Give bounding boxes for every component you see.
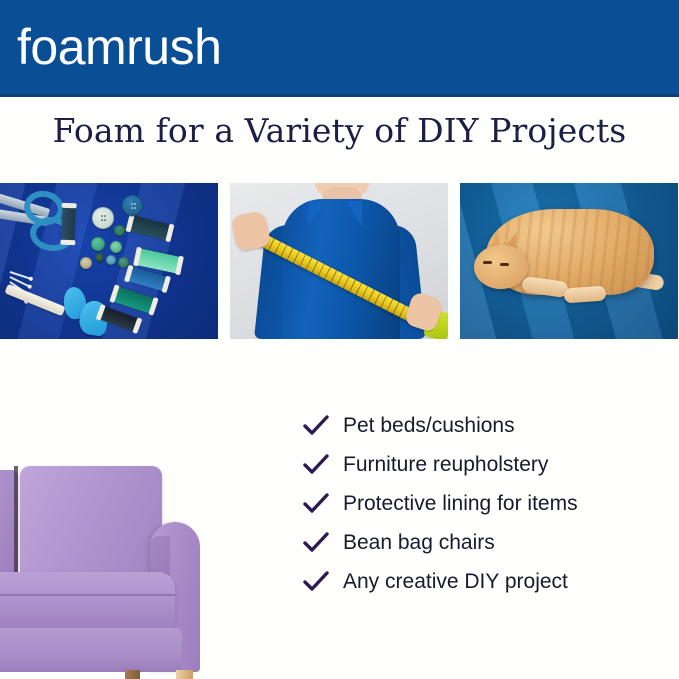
list-item: Any creative DIY project <box>303 562 679 601</box>
cat-head <box>474 245 528 289</box>
sofa-base-skirt <box>0 628 182 672</box>
cat-eye <box>500 263 509 266</box>
button <box>122 195 143 216</box>
photo-strip <box>0 183 679 339</box>
button <box>110 241 122 253</box>
sofa-seat-seam <box>0 594 175 596</box>
cat-paw <box>564 286 607 304</box>
benefit-label: Furniture reupholstery <box>343 452 548 478</box>
button <box>95 253 104 262</box>
button <box>80 257 92 269</box>
cat-eye <box>483 261 492 264</box>
benefits-list: Pet beds/cushions Furniture reupholstery… <box>303 406 679 601</box>
list-item: Furniture reupholstery <box>303 445 679 484</box>
check-icon <box>303 571 343 593</box>
page-title: Foam for a Variety of DIY Projects <box>0 108 679 154</box>
lavender-sofa-illustration <box>0 442 260 679</box>
brand-banner: foamrush <box>0 0 679 97</box>
shirt-collar-right <box>346 201 362 227</box>
tape-measure-photo <box>230 183 448 339</box>
button <box>106 255 116 265</box>
sofa-leg-back <box>125 670 140 679</box>
button <box>91 237 105 251</box>
list-item: Protective lining for items <box>303 484 679 523</box>
shirt-collar-left <box>308 201 324 227</box>
benefit-label: Pet beds/cushions <box>343 413 515 439</box>
thread-spool <box>61 205 75 243</box>
button <box>118 257 129 268</box>
sewing-supplies-photo <box>0 183 218 339</box>
blue-shirt-torso <box>282 199 400 339</box>
cat-on-cushion-photo <box>460 183 678 339</box>
benefit-label: Protective lining for items <box>343 491 578 517</box>
check-icon <box>303 532 343 554</box>
check-icon <box>303 454 343 476</box>
benefit-label: Any creative DIY project <box>343 569 568 595</box>
list-item: Pet beds/cushions <box>303 406 679 445</box>
product-infographic-page: foamrush Foam for a Variety of DIY Proje… <box>0 0 679 679</box>
list-item: Bean bag chairs <box>303 523 679 562</box>
sofa-leg-front <box>176 670 193 679</box>
benefit-label: Bean bag chairs <box>343 530 495 556</box>
check-icon <box>303 493 343 515</box>
check-icon <box>303 415 343 437</box>
sofa-seat-cushion <box>0 572 175 628</box>
button <box>114 225 125 236</box>
sofa-back-cushion-right <box>20 466 162 579</box>
sofa-cushion-seam <box>14 466 18 580</box>
button <box>92 207 114 229</box>
brand-wordmark: foamrush <box>17 20 221 74</box>
sofa-arm-inner-shade <box>150 536 170 576</box>
